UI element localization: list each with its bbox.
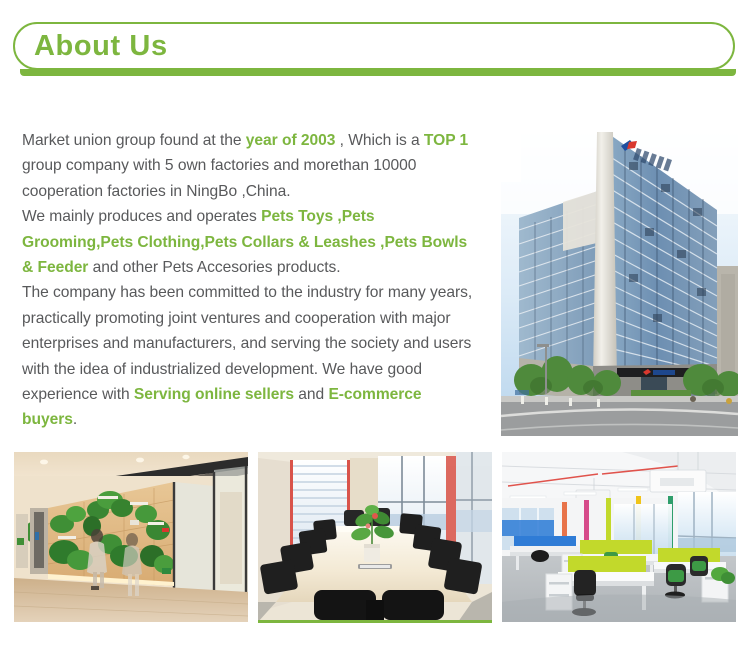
task-chair-right-2 — [690, 556, 708, 576]
about-text-run-2: , Which is a — [335, 132, 424, 149]
open-office-illustration — [502, 452, 736, 622]
about-text-run-7: and — [294, 386, 328, 403]
office-lobby-green-wall-photo — [14, 452, 248, 622]
header-underline-bar — [20, 69, 736, 76]
about-text-run-3: group company with 5 own factories and m… — [22, 157, 416, 199]
about-highlight-year: year of 2003 — [246, 132, 336, 149]
conference-room-photo — [258, 452, 492, 622]
about-highlight-online-sellers: Serving online sellers — [134, 386, 294, 403]
about-text-run-8: . — [73, 411, 77, 428]
open-plan-office-photo — [502, 452, 736, 622]
section-header-banner: About Us — [0, 22, 750, 84]
conference-room-illustration — [258, 452, 492, 622]
company-headquarters-building-photo — [501, 118, 738, 436]
about-text-run-5: and other Pets Accesories products. — [88, 259, 340, 276]
about-us-paragraph: Market union group found at the year of … — [22, 128, 480, 433]
task-chair-right — [665, 564, 686, 599]
conference-photo-accent-underline — [258, 620, 492, 623]
about-text-run-4: We mainly produces and operates — [22, 208, 261, 225]
about-text-run-1: Market union group found at the — [22, 132, 246, 149]
lobby-illustration — [14, 452, 248, 622]
page-title: About Us — [34, 26, 168, 66]
building-illustration — [501, 118, 738, 436]
about-highlight-top1: TOP 1 — [424, 132, 468, 149]
